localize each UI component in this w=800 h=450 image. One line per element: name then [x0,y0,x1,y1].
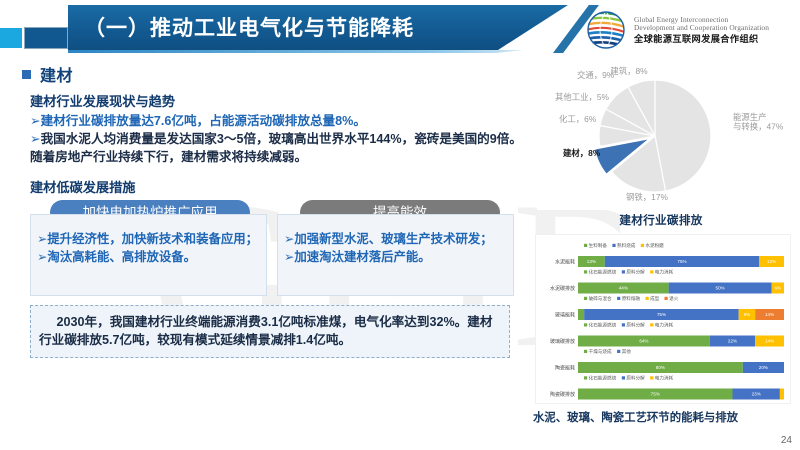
bar-row-label: 陶瓷能耗 [555,364,575,371]
bar-segment-label: 6% [774,286,781,291]
measure-box-left: ➢提升经济性，加快新技术和装备应用； ➢淘汰高耗能、高排放设备。 [30,214,267,296]
legend-label: 化石能源燃烧 [589,375,617,382]
legend-label: 电力消耗 [655,375,674,382]
summary-callout-box: 2030年，我国建材行业终端能源消费3.1亿吨标准煤，电气化率达到32%。建材行… [30,305,510,359]
bullet-item-2: ➢我国水泥人均消费量是发达国家3～5倍，玻璃高出世界水平144%，瓷砖是美国的9… [30,131,522,167]
measure-left-item-2: ➢淘汰高耗能、高排放设备。 [37,249,260,267]
pie-slice-label: 交通，9% [577,70,615,80]
legend-swatch [641,244,644,247]
organization-logo: Global Energy Interconnection Developmen… [586,8,796,52]
bar-segment-label: 75% [657,312,666,317]
legend-swatch [617,350,620,353]
arrow-bullet-icon: ➢ [37,232,47,246]
legend-swatch [617,297,620,300]
legend-swatch [584,270,587,273]
bar-row-label: 水泥能耗 [555,258,575,265]
legend-label: 水泥粉磨 [645,242,664,249]
measure-left-text-1: 提升经济性，加快新技术和装备应用； [47,232,258,246]
pie-chart-svg: 能源生产与转换，47%钢铁，17%建材，8%化工，6%其他工业，5%交通，9%建… [537,60,787,210]
legend-swatch [622,376,625,379]
summary-body: 2030年，我国建材行业终端能源消费3.1亿吨标准煤，电气化率达到32%。建材行… [39,315,492,347]
legend-swatch [584,244,587,247]
stacked-bar-chart-svg: 生料制备熟料烧成水泥粉磨水泥能耗13%75%12%化石能源燃烧原料分解电力消耗水… [536,235,792,405]
logo-cn-name: 全球能源互联网发展合作组织 [634,34,769,44]
legend-label: 熟料烧成 [617,242,636,249]
legend-label: 化石能源燃烧 [589,269,617,276]
legend-label: 原料分解 [626,375,645,382]
measure-left-item-1: ➢提升经济性，加快新技术和装备应用； [37,231,260,249]
pie-slices [595,80,711,192]
arrow-bullet-icon: ➢ [284,232,294,246]
pie-slice-label: 建材，8% [562,148,601,158]
measure-detail-boxes: ➢提升经济性，加快新技术和装备应用； ➢淘汰高耗能、高排放设备。 ➢加强新型水泥… [30,214,522,296]
section-title: 建材 [40,62,73,86]
legend-swatch [584,350,587,353]
legend-swatch [650,270,653,273]
pie-slice [655,80,711,191]
measure-right-item-2: ➢加速淘汰建材落后产能。 [284,249,507,267]
bullet-text-1: 建材行业碳排放量达7.6亿吨，占能源活动碳排放总量8%。 [41,114,366,128]
bar-segment-label: 14% [765,312,774,317]
measure-right-item-1: ➢加强新型水泥、玻璃生产技术研发； [284,231,507,249]
pie-slice-label: 化工，6% [559,114,597,124]
legend-label: 干燥与烧成 [589,348,612,355]
legend-swatch [622,323,625,326]
legend-swatch [622,270,625,273]
bar-segment-label: 13% [587,259,596,264]
page-number: 24 [781,435,792,446]
legend-swatch [650,323,653,326]
bar-row-label: 玻璃能耗 [555,311,575,318]
legend-label: 化石能源燃烧 [589,322,617,329]
measure-box-right: ➢加强新型水泥、玻璃生产技术研发； ➢加速淘汰建材落后产能。 [277,214,514,296]
legend-swatch [612,244,615,247]
bullet-item-1: ➢建材行业碳排放量达7.6亿吨，占能源活动碳排放总量8%。 [30,113,522,131]
content-right-column: 能源生产与转换，47%钢铁，17%建材，8%化工，6%其他工业，5%交通，9%建… [527,60,795,448]
measure-left-text-2: 淘汰高耗能、高排放设备。 [47,250,196,264]
legend-swatch [584,297,587,300]
bar-segment-label: 14% [765,339,774,344]
legend-swatch [646,297,649,300]
bar-segment [780,389,784,400]
bar-segment-label: 23% [752,392,761,397]
pie-slice-label: 建筑，8% [610,66,648,76]
legend-label: 其他 [622,348,632,355]
header-accent-square-cyan [0,28,22,48]
header-accent-square-blue [24,27,68,49]
bar-segment-label: 75% [677,259,686,264]
legend-label: 退火 [669,295,679,302]
bullet-text-2: 我国水泥人均消费量是发达国家3～5倍，玻璃高出世界水平144%，瓷砖是美国的9倍… [30,132,522,164]
arrow-bullet-icon: ➢ [30,132,41,146]
bar-segment-label: 20% [759,365,768,370]
bar-row-label: 陶瓷碳排放 [550,391,575,398]
measure-right-text-2: 加速淘汰建材落后产能。 [294,250,430,264]
summary-text: 2030年，我国建材行业终端能源消费3.1亿吨标准煤，电气化率达到32%。建材行… [39,313,501,350]
stacked-bar-chart: 生料制备熟料烧成水泥粉磨水泥能耗13%75%12%化石能源燃烧原料分解电力消耗水… [535,234,791,404]
square-bullet-icon [22,70,31,79]
bar-segment-label: 64% [639,339,648,344]
bar-segment-label: 44% [619,286,628,291]
legend-label: 生料制备 [589,242,608,249]
bar-segment-label: 50% [716,286,725,291]
bar-groups: 生料制备熟料烧成水泥粉磨水泥能耗13%75%12%化石能源燃烧原料分解电力消耗水… [550,242,784,400]
legend-label: 电力消耗 [655,322,674,329]
legend-label: 原料分解 [626,322,645,329]
arrow-bullet-icon: ➢ [30,114,41,128]
bar-row-label: 水泥碳排放 [550,285,575,292]
subsection-trends-heading: 建材行业发展现状与趋势 [30,91,522,110]
bar-segment-label: 80% [656,365,665,370]
legend-label: 成型 [650,295,660,302]
legend-swatch [665,297,668,300]
legend-swatch [584,376,587,379]
page-title: （一）推动工业电气化与节能降耗 [84,12,504,42]
logo-en-line2: Development and Cooperation Organization [634,24,769,32]
legend-swatch [584,323,587,326]
subsection-measures-heading: 建材低碳发展措施 [30,177,522,196]
legend-label: 原料分解 [626,269,645,276]
pie-slice-label: 钢铁，17% [626,192,668,202]
bar-segment-label: 8% [744,312,751,317]
legend-swatch [650,376,653,379]
pie-slice-label: 其他工业，5% [555,92,610,102]
bar-segment [578,309,584,320]
measure-right-text-1: 加强新型水泥、玻璃生产技术研发； [294,232,492,246]
legend-label: 电力消耗 [655,269,674,276]
bar-segment-label: 75% [651,392,660,397]
slide-root: GEIDCO （一）推动工业电气化与节能降耗 [0,0,800,450]
legend-label: 破碎与混合 [589,295,612,302]
bar-row-label: 玻璃碳排放 [550,338,575,345]
legend-label: 原料熔融 [622,295,641,302]
bar-segment-label: 12% [767,259,776,264]
bar-segment-label: 22% [728,339,737,344]
slide-header: （一）推动工业电气化与节能降耗 [0,0,800,60]
pie-chart-caption: 建材行业碳排放 [527,212,795,228]
pie-chart: 能源生产与转换，47%钢铁，17%建材，8%化工，6%其他工业，5%交通，9%建… [537,60,787,210]
bar-chart-caption: 水泥、玻璃、陶瓷工艺环节的能耗与排放 [533,409,795,425]
section-heading: 建材 [22,62,522,86]
globe-icon [586,10,626,50]
arrow-bullet-icon: ➢ [284,250,294,264]
content-left-column: 建材 建材行业发展现状与趋势 ➢建材行业碳排放量达7.6亿吨，占能源活动碳排放总… [22,62,522,442]
arrow-bullet-icon: ➢ [37,250,47,264]
pie-slice-label: 能源生产与转换，47% [733,112,784,132]
header-underline [68,50,523,53]
